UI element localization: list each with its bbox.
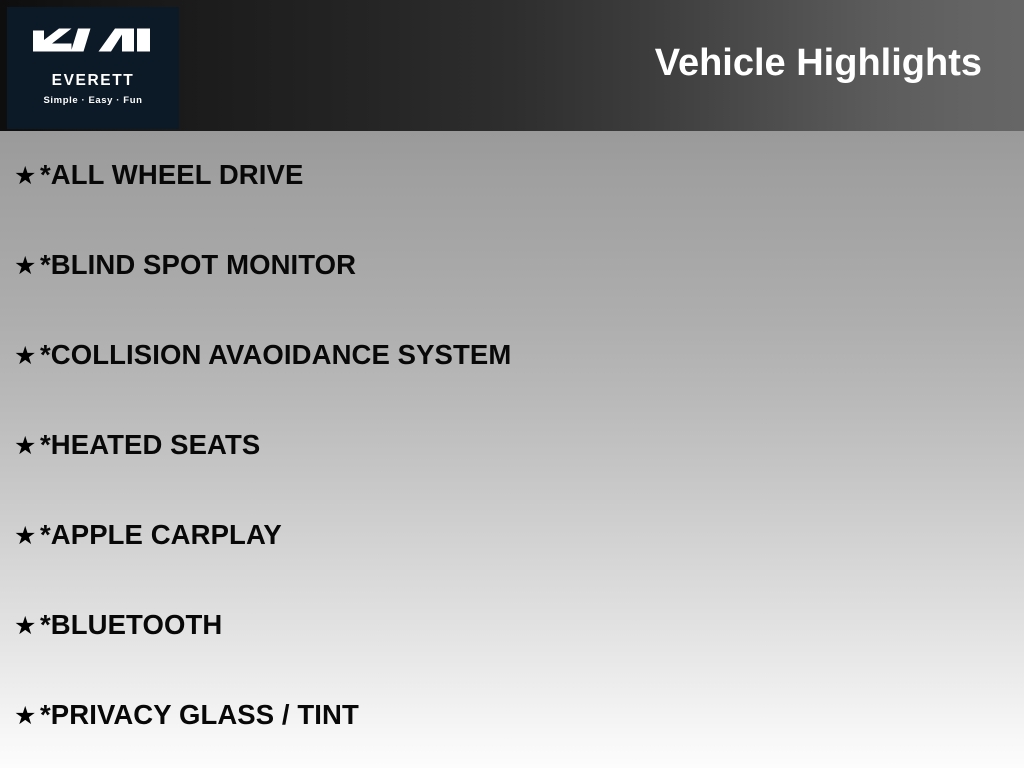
page-header: EVERETT Simple · Easy · Fun Vehicle High… <box>0 0 1024 131</box>
kia-wordmark-icon <box>32 27 154 57</box>
dealer-logo-badge: EVERETT Simple · Easy · Fun <box>8 8 178 128</box>
star-bullet-icon: ★ <box>14 433 40 458</box>
highlight-label: *ALL WHEEL DRIVE <box>40 161 303 189</box>
highlight-item: ★*COLLISION AVAOIDANCE SYSTEM <box>14 341 511 369</box>
highlight-item: ★*HEATED SEATS <box>14 431 260 459</box>
highlight-label: *APPLE CARPLAY <box>40 521 282 549</box>
highlights-panel: ★*ALL WHEEL DRIVE★*BLIND SPOT MONITOR★*C… <box>0 131 1024 768</box>
highlight-label: *HEATED SEATS <box>40 431 260 459</box>
highlight-label: *PRIVACY GLASS / TINT <box>40 701 359 729</box>
highlight-label: *BLUETOOTH <box>40 611 222 639</box>
highlight-label: *BLIND SPOT MONITOR <box>40 251 356 279</box>
highlight-item: ★*BLIND SPOT MONITOR <box>14 251 356 279</box>
dealer-name: EVERETT <box>52 73 135 89</box>
highlight-item: ★*BLUETOOTH <box>14 611 222 639</box>
highlight-label: *COLLISION AVAOIDANCE SYSTEM <box>40 341 511 369</box>
highlight-item: ★*ALL WHEEL DRIVE <box>14 161 303 189</box>
highlight-item: ★*APPLE CARPLAY <box>14 521 282 549</box>
highlight-item: ★*PRIVACY GLASS / TINT <box>14 701 359 729</box>
star-bullet-icon: ★ <box>14 343 40 368</box>
star-bullet-icon: ★ <box>14 163 40 188</box>
vehicle-highlights-page: EVERETT Simple · Easy · Fun Vehicle High… <box>0 0 1024 768</box>
star-bullet-icon: ★ <box>14 253 40 278</box>
page-title: Vehicle Highlights <box>655 44 982 82</box>
star-bullet-icon: ★ <box>14 523 40 548</box>
star-bullet-icon: ★ <box>14 703 40 728</box>
dealer-tagline: Simple · Easy · Fun <box>43 96 142 106</box>
star-bullet-icon: ★ <box>14 613 40 638</box>
